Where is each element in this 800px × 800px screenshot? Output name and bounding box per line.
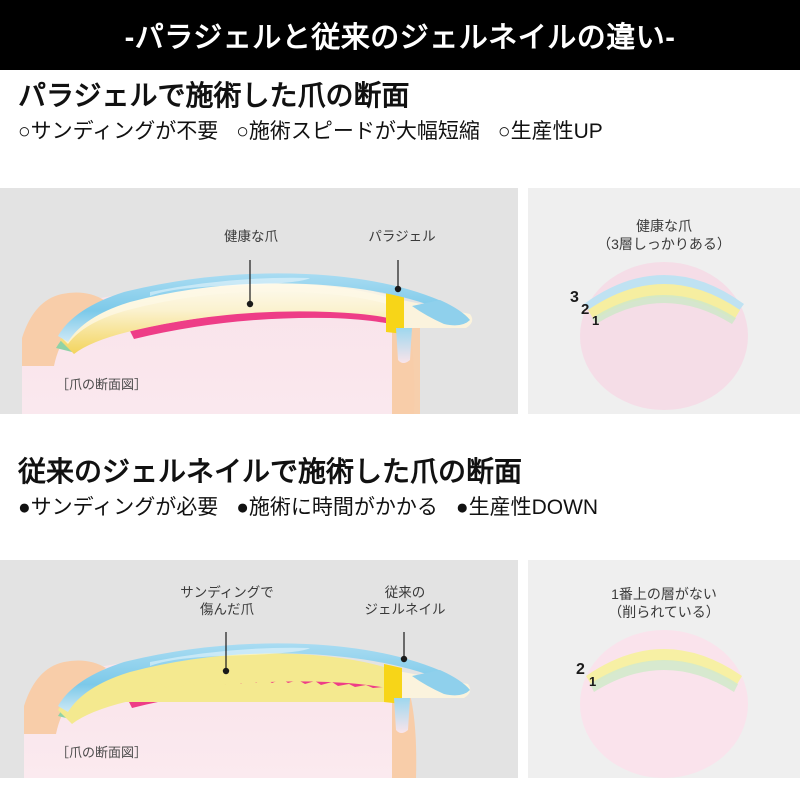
layer-number-2: 2	[581, 302, 589, 317]
section-title-paragel: パラジェルで施術した爪の断面	[18, 82, 603, 110]
layer-number-1: 1	[592, 314, 599, 327]
diagram-panel-conventional-layers: 1番上の層がない （削られている） 2 1	[528, 560, 800, 778]
label-conventional-gel: 従来の ジェルネイル	[340, 584, 470, 619]
section-heading-paragel: パラジェルで施術した爪の断面 ○サンディングが不要○施術スピードが大幅短縮○生産…	[18, 82, 603, 142]
label-missing-top-layer: 1番上の層がない （削られている）	[528, 586, 800, 622]
leader-dot-damaged-nail	[223, 668, 229, 674]
section-heading-conventional: 従来のジェルネイルで施術した爪の断面 ●サンディングが必要●施術に時間がかかる●…	[18, 458, 598, 518]
diagram-panel-paragel-layers: 健康な爪 （3層しっかりある） 3 2 1	[528, 188, 800, 414]
label-healthy-nail-layers: 健康な爪 （3層しっかりある）	[528, 218, 800, 254]
layer-number-3: 3	[570, 290, 579, 306]
free-edge-yellow-band	[386, 292, 404, 334]
bullet-item: ●サンディングが必要	[18, 496, 218, 519]
leader-dot-conventional-gel	[401, 656, 407, 662]
section-title-conventional: 従来のジェルネイルで施術した爪の断面	[18, 458, 598, 486]
bullet-item: ●生産性DOWN	[456, 496, 598, 519]
caption-cross-section-paragel: ［爪の断面図］	[56, 374, 147, 393]
infographic-page: -パラジェルと従来のジェルネイルの違い- パラジェルで施術した爪の断面 ○サンデ…	[0, 0, 800, 800]
leader-dot-healthy-nail	[247, 301, 253, 307]
bullet-item: ○施術スピードが大幅短縮	[236, 120, 480, 143]
bullet-item: ●施術に時間がかかる	[236, 496, 438, 519]
header-bar: -パラジェルと従来のジェルネイルの違い-	[0, 0, 800, 70]
label-healthy-nail: 健康な爪	[196, 228, 306, 245]
bullet-item: ○生産性UP	[498, 120, 603, 143]
bullet-list-paragel: ○サンディングが不要○施術スピードが大幅短縮○生産性UP	[18, 121, 603, 142]
bullet-item: ○サンディングが不要	[18, 120, 218, 143]
gel-underside-drip	[394, 698, 410, 733]
page-title: -パラジェルと従来のジェルネイルの違い-	[125, 14, 676, 56]
label-damaged-nail: サンディングで 傷んだ爪	[162, 584, 292, 619]
layer-number-1: 1	[589, 675, 596, 688]
gel-underside-drip	[396, 328, 412, 363]
label-paragel: パラジェル	[348, 228, 456, 245]
caption-cross-section-conventional: ［爪の断面図］	[56, 742, 147, 761]
layer-number-2: 2	[576, 662, 585, 678]
leader-dot-paragel	[395, 286, 401, 292]
diagram-panel-conventional-cross-section: サンディングで 傷んだ爪 従来の ジェルネイル ［爪の断面図］	[0, 560, 518, 778]
bullet-list-conventional: ●サンディングが必要●施術に時間がかかる●生産性DOWN	[18, 497, 598, 518]
diagram-panel-paragel-cross-section: 健康な爪 パラジェル ［爪の断面図］	[0, 188, 518, 414]
